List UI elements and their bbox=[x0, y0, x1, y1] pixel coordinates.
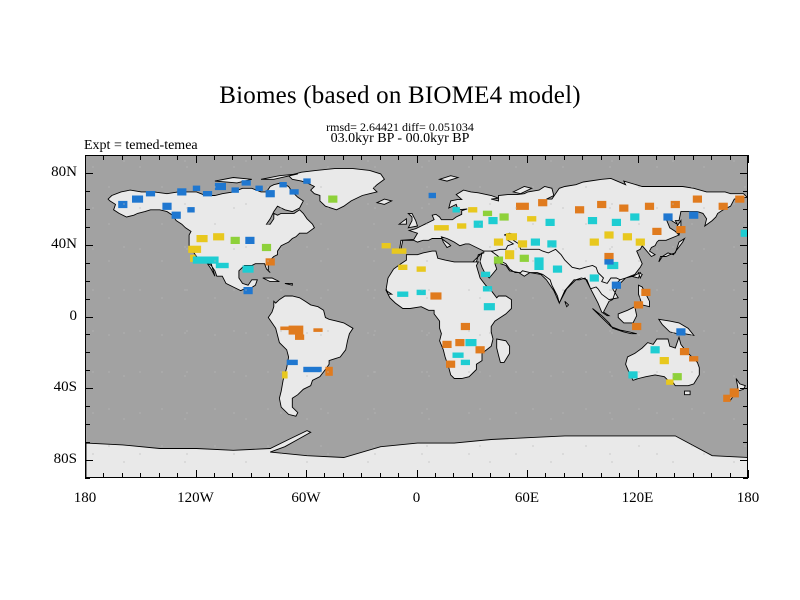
x-axis-tick bbox=[601, 473, 602, 478]
landmass bbox=[685, 391, 691, 395]
biome-difference-cell bbox=[245, 237, 254, 244]
biome-difference-cell bbox=[465, 339, 476, 346]
biome-difference-cell bbox=[651, 346, 660, 353]
y-axis-tick-right bbox=[740, 317, 748, 318]
y-axis-tick-right bbox=[740, 388, 748, 389]
biome-difference-cell bbox=[417, 290, 426, 295]
x-axis-label: 120W bbox=[166, 490, 226, 507]
x-axis-tick bbox=[711, 473, 712, 478]
x-axis-tick bbox=[417, 470, 418, 478]
x-axis-tick-top bbox=[509, 155, 510, 160]
biome-difference-cell bbox=[397, 292, 408, 297]
biome-difference-cell bbox=[484, 303, 495, 310]
biome-difference-cell bbox=[282, 371, 288, 378]
y-axis-tick bbox=[85, 424, 90, 425]
biome-difference-cell bbox=[494, 239, 503, 246]
page-title: Biomes (based on BIOME4 model) bbox=[0, 82, 800, 110]
biome-difference-cell bbox=[628, 371, 637, 378]
x-axis-tick bbox=[288, 473, 289, 478]
biome-difference-cell bbox=[442, 341, 451, 348]
biome-difference-cell bbox=[604, 253, 613, 260]
biome-difference-cell bbox=[146, 191, 155, 196]
biome-difference-cell bbox=[429, 193, 436, 198]
biome-difference-cell bbox=[666, 379, 673, 384]
biome-difference-cell bbox=[177, 188, 186, 195]
x-axis-tick-top bbox=[693, 155, 694, 160]
x-axis-tick-top bbox=[711, 155, 712, 160]
x-axis-tick bbox=[582, 473, 583, 478]
y-axis-tick bbox=[85, 442, 90, 443]
biome-difference-cell bbox=[546, 219, 555, 226]
x-axis-tick-top bbox=[527, 155, 528, 163]
x-axis-tick bbox=[472, 473, 473, 478]
biome-difference-cell bbox=[455, 339, 464, 346]
biome-difference-cell bbox=[483, 211, 492, 216]
y-axis-tick bbox=[85, 263, 90, 264]
biome-difference-cell bbox=[453, 207, 460, 212]
x-axis-tick-top bbox=[177, 155, 178, 160]
biome-difference-cell bbox=[215, 183, 226, 190]
biome-difference-cell bbox=[289, 326, 304, 335]
x-axis-tick-top bbox=[196, 155, 197, 163]
biome-difference-cell bbox=[203, 191, 212, 196]
y-axis-tick-right bbox=[743, 370, 748, 371]
biome-difference-cell bbox=[434, 225, 449, 230]
x-axis-tick bbox=[545, 473, 546, 478]
y-axis-tick bbox=[85, 460, 93, 461]
landmass bbox=[285, 283, 292, 285]
y-axis-label: 80S bbox=[33, 451, 77, 468]
x-axis-tick bbox=[398, 473, 399, 478]
x-axis-tick-top bbox=[417, 155, 418, 163]
x-axis-label: 180 bbox=[718, 490, 778, 507]
y-axis-tick bbox=[85, 245, 93, 246]
x-axis-tick-top bbox=[564, 155, 565, 160]
biome-difference-cell bbox=[303, 178, 310, 183]
x-axis-tick bbox=[564, 473, 565, 478]
landmass bbox=[497, 339, 510, 362]
biome-difference-cell bbox=[244, 287, 253, 294]
biome-difference-cell bbox=[313, 328, 322, 332]
biome-difference-cell bbox=[162, 203, 171, 210]
x-axis-tick bbox=[177, 473, 178, 478]
y-axis-tick bbox=[85, 334, 90, 335]
y-axis-tick-right bbox=[740, 245, 748, 246]
x-axis-tick bbox=[509, 473, 510, 478]
y-axis-tick-right bbox=[743, 424, 748, 425]
x-axis-tick-top bbox=[638, 155, 639, 163]
biome-difference-cell bbox=[588, 217, 597, 224]
biome-difference-cell bbox=[630, 213, 639, 220]
biome-difference-cell bbox=[612, 219, 621, 226]
biome-difference-cell bbox=[398, 265, 407, 270]
x-axis-tick bbox=[656, 473, 657, 478]
y-axis-tick-right bbox=[743, 191, 748, 192]
biome-difference-cell bbox=[505, 250, 514, 259]
x-axis-tick bbox=[693, 473, 694, 478]
x-axis-tick-top bbox=[674, 155, 675, 160]
x-axis-label: 60E bbox=[497, 490, 557, 507]
biome-difference-cell bbox=[242, 180, 251, 185]
x-axis-tick-top bbox=[288, 155, 289, 160]
y-axis-tick-right bbox=[743, 209, 748, 210]
x-axis-tick bbox=[196, 470, 197, 478]
landmass bbox=[386, 178, 747, 378]
y-axis-tick-right bbox=[743, 352, 748, 353]
x-axis-tick-top bbox=[398, 155, 399, 160]
x-axis-tick-top bbox=[601, 155, 602, 160]
biome-difference-cell bbox=[506, 233, 517, 240]
x-axis-tick-top bbox=[380, 155, 381, 160]
biome-difference-cell bbox=[279, 182, 286, 187]
biome-difference-cell bbox=[193, 257, 219, 264]
biome-difference-cell bbox=[193, 186, 200, 191]
biome-difference-cell bbox=[723, 395, 730, 402]
coastline-map bbox=[86, 156, 748, 478]
x-axis-tick bbox=[214, 473, 215, 478]
biome-difference-cell bbox=[634, 301, 643, 308]
biome-difference-cell bbox=[118, 201, 127, 208]
world-map-plot[interactable] bbox=[85, 155, 748, 478]
biome-difference-cell bbox=[632, 323, 641, 330]
biome-difference-cell bbox=[636, 239, 645, 246]
biome-difference-cell bbox=[652, 228, 661, 235]
x-axis-tick bbox=[619, 473, 620, 478]
biome-difference-cell bbox=[590, 274, 599, 281]
y-axis-tick bbox=[85, 155, 90, 156]
biome-difference-cell bbox=[172, 212, 181, 219]
x-axis-tick bbox=[490, 473, 491, 478]
biome-difference-cell bbox=[516, 203, 529, 210]
x-axis-tick bbox=[85, 470, 86, 478]
landmass bbox=[618, 307, 637, 323]
biome-difference-cell bbox=[623, 233, 632, 240]
y-axis-tick-right bbox=[740, 460, 748, 461]
biome-difference-cell bbox=[676, 226, 685, 233]
x-axis-tick-top bbox=[656, 155, 657, 160]
biome-difference-cell bbox=[689, 212, 698, 219]
y-axis-tick bbox=[85, 209, 90, 210]
y-axis-tick bbox=[85, 173, 93, 174]
y-axis-tick-right bbox=[743, 442, 748, 443]
biome-difference-cell bbox=[430, 292, 441, 299]
x-axis-tick bbox=[103, 473, 104, 478]
y-axis-tick-right bbox=[743, 334, 748, 335]
biome-difference-cell bbox=[255, 186, 262, 191]
x-axis-label: 180 bbox=[55, 490, 115, 507]
y-axis-tick bbox=[85, 191, 90, 192]
x-axis-tick bbox=[527, 470, 528, 478]
biome-difference-cell bbox=[231, 237, 240, 244]
biome-difference-cell bbox=[325, 367, 332, 376]
x-axis-tick-top bbox=[472, 155, 473, 160]
biome-difference-cell bbox=[213, 233, 224, 240]
biome-difference-cell bbox=[188, 246, 201, 253]
x-axis-tick-top bbox=[545, 155, 546, 160]
x-axis-label: 60W bbox=[276, 490, 336, 507]
figure-canvas: Biomes (based on BIOME4 model) rmsd= 2.6… bbox=[0, 0, 800, 600]
biome-difference-cell bbox=[488, 217, 497, 224]
y-axis-tick bbox=[85, 388, 93, 389]
x-axis-tick bbox=[730, 473, 731, 478]
x-axis-tick bbox=[748, 470, 749, 478]
x-axis-tick-top bbox=[490, 155, 491, 160]
x-axis-tick-top bbox=[214, 155, 215, 160]
landmass bbox=[399, 219, 406, 224]
x-axis-tick-top bbox=[232, 155, 233, 160]
biome-difference-cell bbox=[520, 255, 529, 262]
biome-difference-cell bbox=[280, 327, 289, 331]
x-axis-tick bbox=[638, 470, 639, 478]
landmass bbox=[659, 239, 685, 262]
biome-difference-cell bbox=[527, 216, 536, 221]
x-axis-tick-top bbox=[122, 155, 123, 160]
biome-difference-cell bbox=[392, 248, 407, 253]
biome-difference-cell bbox=[303, 367, 321, 372]
x-axis-tick bbox=[435, 473, 436, 478]
y-axis-tick-right bbox=[743, 263, 748, 264]
y-axis-tick bbox=[85, 299, 90, 300]
y-axis-tick bbox=[85, 370, 90, 371]
biome-difference-cell bbox=[735, 196, 744, 203]
x-axis-tick-top bbox=[103, 155, 104, 160]
biome-difference-cell bbox=[476, 346, 485, 353]
biome-difference-cell bbox=[328, 196, 337, 203]
biome-difference-cell bbox=[417, 266, 426, 271]
biome-difference-cell bbox=[266, 190, 275, 197]
biome-difference-cell bbox=[197, 235, 208, 242]
biome-difference-cell bbox=[481, 272, 490, 277]
landmass bbox=[440, 176, 458, 181]
y-axis-tick bbox=[85, 478, 90, 479]
x-axis-tick-top bbox=[343, 155, 344, 160]
biome-difference-cell bbox=[553, 266, 562, 273]
biome-difference-cell bbox=[693, 196, 702, 203]
biome-difference-cell bbox=[468, 207, 477, 212]
y-axis-tick-right bbox=[743, 478, 748, 479]
biome-difference-cell bbox=[689, 356, 698, 361]
y-axis-tick bbox=[85, 281, 90, 282]
experiment-annotation: Expt = temed-temea bbox=[84, 138, 198, 154]
biome-difference-cell bbox=[290, 189, 299, 194]
y-axis-label: 40N bbox=[33, 236, 77, 253]
biome-difference-cell bbox=[590, 239, 599, 246]
biome-difference-cell bbox=[500, 213, 509, 220]
biome-difference-cell bbox=[641, 289, 650, 296]
y-axis-label: 0 bbox=[33, 308, 77, 325]
landmass bbox=[565, 301, 569, 306]
x-axis-tick-top bbox=[306, 155, 307, 163]
biome-difference-cell bbox=[243, 266, 254, 273]
biome-difference-cell bbox=[262, 244, 271, 251]
biome-difference-cell bbox=[538, 199, 547, 206]
biome-difference-cell bbox=[483, 286, 492, 291]
biome-difference-cell bbox=[187, 207, 194, 212]
y-axis-tick-right bbox=[743, 406, 748, 407]
y-axis-tick bbox=[85, 317, 93, 318]
landmass bbox=[408, 213, 417, 227]
x-axis-tick bbox=[140, 473, 141, 478]
biome-difference-cell bbox=[461, 360, 470, 365]
x-axis-tick bbox=[674, 473, 675, 478]
x-axis-tick-top bbox=[251, 155, 252, 160]
x-axis-tick bbox=[361, 473, 362, 478]
x-axis-tick bbox=[232, 473, 233, 478]
x-axis-tick bbox=[251, 473, 252, 478]
biome-difference-cell bbox=[676, 328, 685, 335]
biome-difference-cell bbox=[663, 213, 672, 220]
biome-difference-cell bbox=[597, 201, 606, 208]
y-axis-tick bbox=[85, 352, 90, 353]
x-axis-tick-top bbox=[619, 155, 620, 160]
biome-difference-cell bbox=[474, 221, 483, 228]
biome-difference-cell bbox=[660, 357, 669, 364]
y-axis-tick-right bbox=[743, 155, 748, 156]
x-axis-tick-top bbox=[453, 155, 454, 160]
biome-difference-cell bbox=[673, 373, 682, 380]
x-axis-tick bbox=[159, 473, 160, 478]
biome-difference-cell bbox=[457, 223, 466, 228]
y-axis-tick bbox=[85, 406, 90, 407]
biome-difference-cell bbox=[461, 323, 470, 330]
x-axis-tick-top bbox=[140, 155, 141, 160]
biome-difference-cell bbox=[453, 353, 464, 358]
y-axis-tick-right bbox=[743, 299, 748, 300]
x-axis-tick bbox=[343, 473, 344, 478]
x-axis-tick-top bbox=[85, 155, 86, 163]
x-axis-tick bbox=[306, 470, 307, 478]
biome-difference-cell bbox=[604, 259, 613, 264]
x-axis-label: 120E bbox=[608, 490, 668, 507]
y-axis-tick-right bbox=[743, 281, 748, 282]
biome-difference-cell bbox=[719, 203, 728, 210]
landmass bbox=[377, 199, 392, 204]
y-axis-tick bbox=[85, 227, 90, 228]
biome-difference-cell bbox=[494, 257, 503, 264]
biome-difference-cell bbox=[741, 230, 748, 237]
x-axis-tick-top bbox=[361, 155, 362, 160]
biome-difference-cell bbox=[645, 203, 654, 210]
biome-difference-cell bbox=[446, 361, 455, 368]
biome-difference-cell bbox=[680, 348, 689, 355]
biome-difference-cell bbox=[534, 257, 543, 270]
x-axis-tick-top bbox=[159, 155, 160, 160]
x-axis-tick bbox=[269, 473, 270, 478]
landmass bbox=[263, 278, 280, 282]
biome-difference-cell bbox=[382, 243, 391, 248]
x-axis-tick-top bbox=[435, 155, 436, 160]
x-axis-tick-top bbox=[269, 155, 270, 160]
landmass bbox=[289, 169, 385, 210]
y-axis-label: 40S bbox=[33, 379, 77, 396]
x-axis-tick bbox=[324, 473, 325, 478]
biome-difference-cell bbox=[575, 206, 584, 213]
x-axis-label: 0 bbox=[387, 490, 447, 507]
biome-difference-cell bbox=[619, 205, 628, 212]
biome-difference-cell bbox=[216, 263, 229, 268]
biome-difference-cell bbox=[531, 239, 540, 246]
x-axis-tick bbox=[453, 473, 454, 478]
biome-difference-cell bbox=[671, 201, 680, 208]
biome-difference-cell bbox=[287, 360, 298, 365]
x-axis-tick bbox=[122, 473, 123, 478]
x-axis-tick-top bbox=[748, 155, 749, 163]
biome-difference-cell bbox=[232, 187, 239, 192]
biome-difference-cell bbox=[612, 282, 621, 289]
x-axis-tick bbox=[380, 473, 381, 478]
x-axis-tick-top bbox=[730, 155, 731, 160]
y-axis-label: 80N bbox=[33, 164, 77, 181]
biome-difference-cell bbox=[518, 240, 527, 247]
x-axis-tick-top bbox=[582, 155, 583, 160]
biome-difference-cell bbox=[547, 240, 556, 247]
biome-difference-cell bbox=[604, 231, 613, 238]
y-axis-tick-right bbox=[740, 173, 748, 174]
x-axis-tick-top bbox=[324, 155, 325, 160]
landmass bbox=[268, 296, 353, 416]
biome-difference-cell bbox=[132, 196, 143, 203]
biome-difference-cell bbox=[730, 388, 739, 397]
biome-difference-cell bbox=[295, 335, 304, 340]
y-axis-tick-right bbox=[743, 227, 748, 228]
biome-difference-cell bbox=[266, 258, 275, 265]
